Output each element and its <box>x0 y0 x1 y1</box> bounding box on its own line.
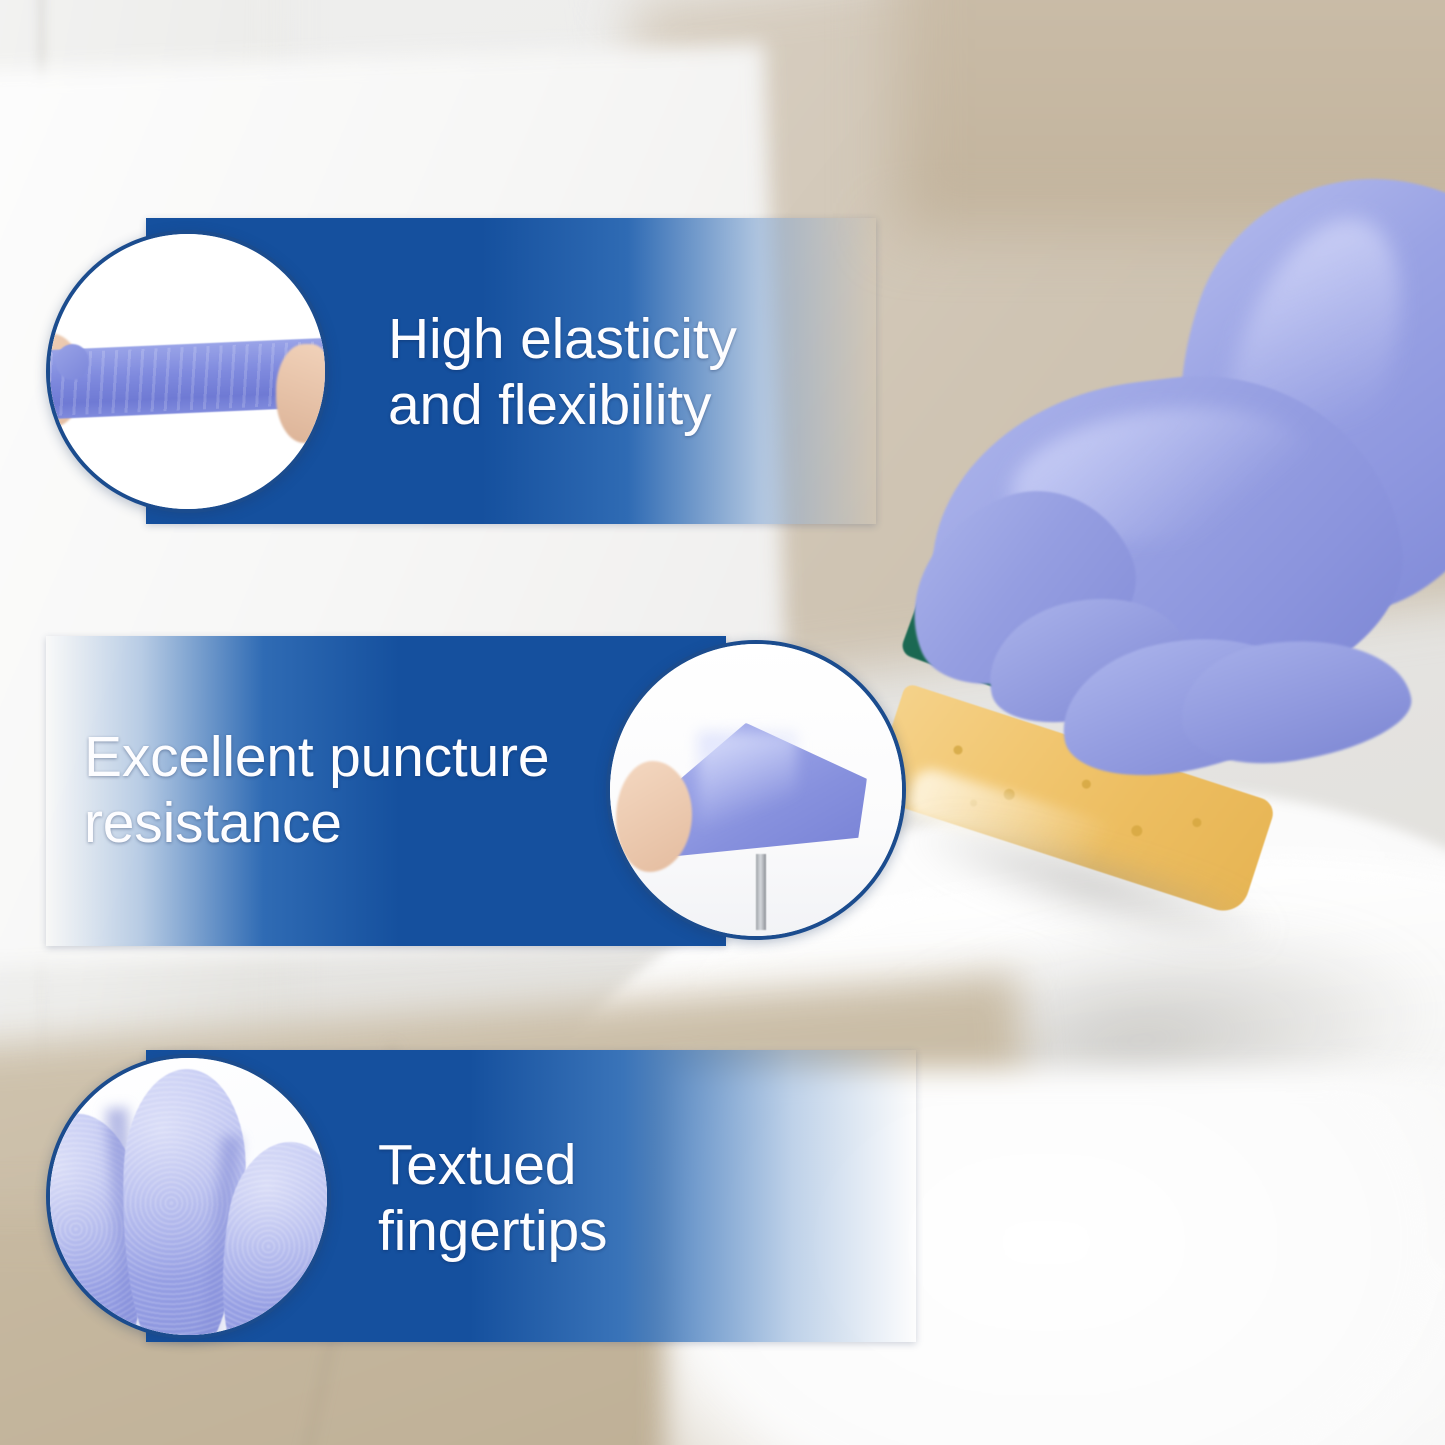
feature-banner-textured-fingertips: Textued fingertips <box>46 1050 916 1342</box>
hand-right <box>276 344 330 443</box>
metal-spike <box>756 854 766 930</box>
feature-image-high-elasticity <box>46 230 329 513</box>
feature-image-textured-fingertips <box>46 1054 331 1339</box>
feature-label-high-elasticity: High elasticity and flexibility <box>388 306 737 438</box>
gloved-thumb <box>56 344 89 380</box>
glove-puncture-photo <box>610 644 902 936</box>
feature-banner-high-elasticity: High elasticity and flexibility <box>46 218 876 524</box>
feature-image-puncture-resistance <box>606 640 906 940</box>
glove-tent-highlight <box>698 732 797 831</box>
glove-stretch-photo <box>50 234 325 509</box>
feature-banner-puncture-resistance: Excellent puncture resistance <box>46 636 906 946</box>
feature-label-textured-fingertips: Textued fingertips <box>378 1132 607 1264</box>
textured-fingertips-photo <box>50 1058 327 1335</box>
feature-label-puncture-resistance: Excellent puncture resistance <box>84 724 549 856</box>
